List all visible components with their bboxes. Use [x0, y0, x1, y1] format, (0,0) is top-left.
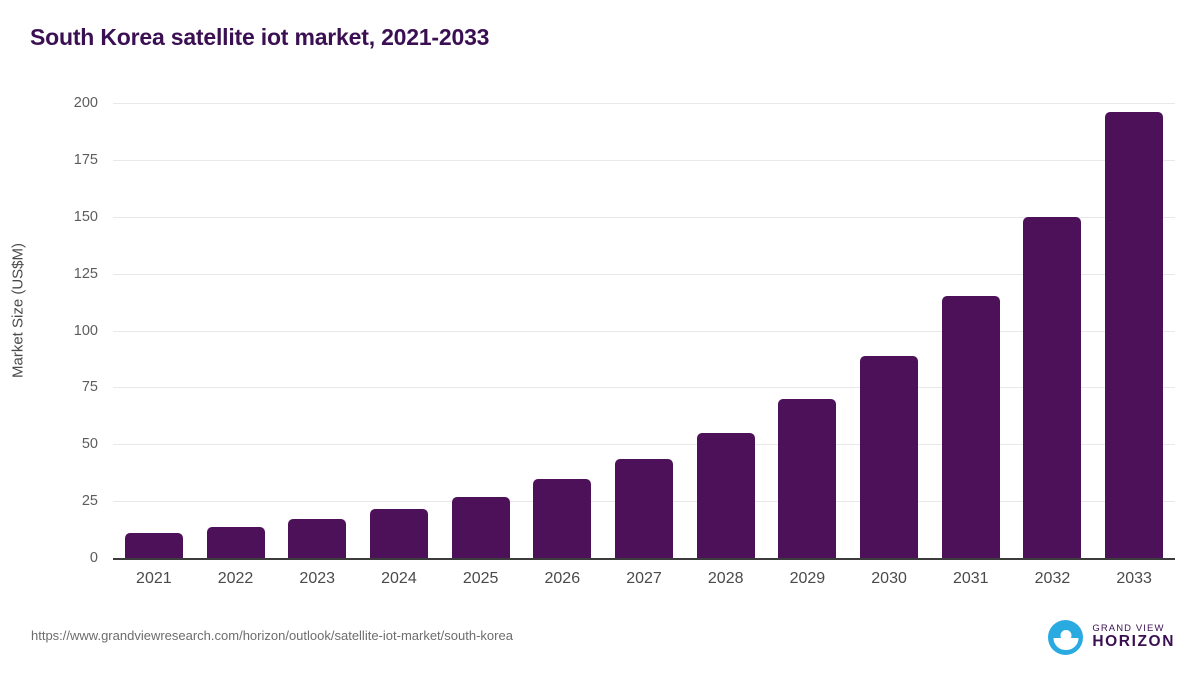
brand-wordmark: GRAND VIEW HORIZON — [1092, 624, 1175, 651]
bar-slot — [195, 103, 277, 558]
bar-slot — [113, 103, 195, 558]
logo-arc-shape — [1053, 638, 1078, 650]
x-tick-label: 2026 — [545, 570, 581, 588]
x-tick-label: 2028 — [708, 570, 744, 588]
bar[interactable] — [370, 509, 428, 558]
bar[interactable] — [207, 527, 265, 558]
bar-slot — [685, 103, 767, 558]
y-tick-label: 175 — [74, 152, 98, 168]
x-tick-label: 2033 — [1116, 570, 1152, 588]
bar-slot — [848, 103, 930, 558]
grand-view-horizon-logo-icon — [1048, 620, 1083, 655]
y-tick-label: 150 — [74, 209, 98, 225]
x-tick-label: 2022 — [218, 570, 254, 588]
bar-slot — [358, 103, 440, 558]
bar[interactable] — [697, 433, 755, 558]
bar[interactable] — [533, 479, 591, 558]
source-url[interactable]: https://www.grandviewresearch.com/horizo… — [31, 628, 513, 643]
bar[interactable] — [1105, 112, 1163, 558]
brand-logo: GRAND VIEW HORIZON — [1048, 620, 1175, 655]
page-title: South Korea satellite iot market, 2021-2… — [30, 24, 489, 51]
y-tick-label: 50 — [82, 436, 98, 452]
bar-slot — [521, 103, 603, 558]
bar-slot — [1093, 103, 1175, 558]
bar[interactable] — [1023, 217, 1081, 558]
x-tick-label: 2021 — [136, 570, 172, 588]
y-tick-label: 100 — [74, 323, 98, 339]
y-axis-title: Market Size (US$M) — [10, 111, 27, 511]
x-tick-label: 2023 — [299, 570, 335, 588]
bar-slot — [1012, 103, 1094, 558]
y-tick-label: 125 — [74, 266, 98, 282]
bar-slot — [276, 103, 358, 558]
bar[interactable] — [778, 399, 836, 558]
chart-page: South Korea satellite iot market, 2021-2… — [0, 0, 1200, 675]
bar-slot — [767, 103, 849, 558]
x-tick-label: 2024 — [381, 570, 417, 588]
bar[interactable] — [942, 296, 1000, 558]
x-tick-label: 2030 — [871, 570, 907, 588]
bar-series — [113, 103, 1175, 558]
bar[interactable] — [860, 356, 918, 558]
x-tick-label: 2032 — [1035, 570, 1071, 588]
bar-slot — [440, 103, 522, 558]
bar[interactable] — [288, 519, 346, 558]
bar-slot — [603, 103, 685, 558]
x-axis-line — [113, 558, 1175, 560]
y-tick-label: 200 — [74, 95, 98, 111]
brand-name-bottom: HORIZON — [1092, 634, 1175, 651]
x-axis-tick-labels: 2021202220232024202520262027202820292030… — [113, 570, 1175, 596]
x-tick-label: 2025 — [463, 570, 499, 588]
bar[interactable] — [125, 533, 183, 558]
x-tick-label: 2029 — [790, 570, 826, 588]
bar[interactable] — [452, 497, 510, 558]
x-tick-label: 2027 — [626, 570, 662, 588]
y-tick-label: 25 — [82, 493, 98, 509]
y-tick-label: 75 — [82, 379, 98, 395]
x-tick-label: 2031 — [953, 570, 989, 588]
bar-slot — [930, 103, 1012, 558]
bar[interactable] — [615, 459, 673, 558]
y-tick-label: 0 — [90, 550, 98, 566]
